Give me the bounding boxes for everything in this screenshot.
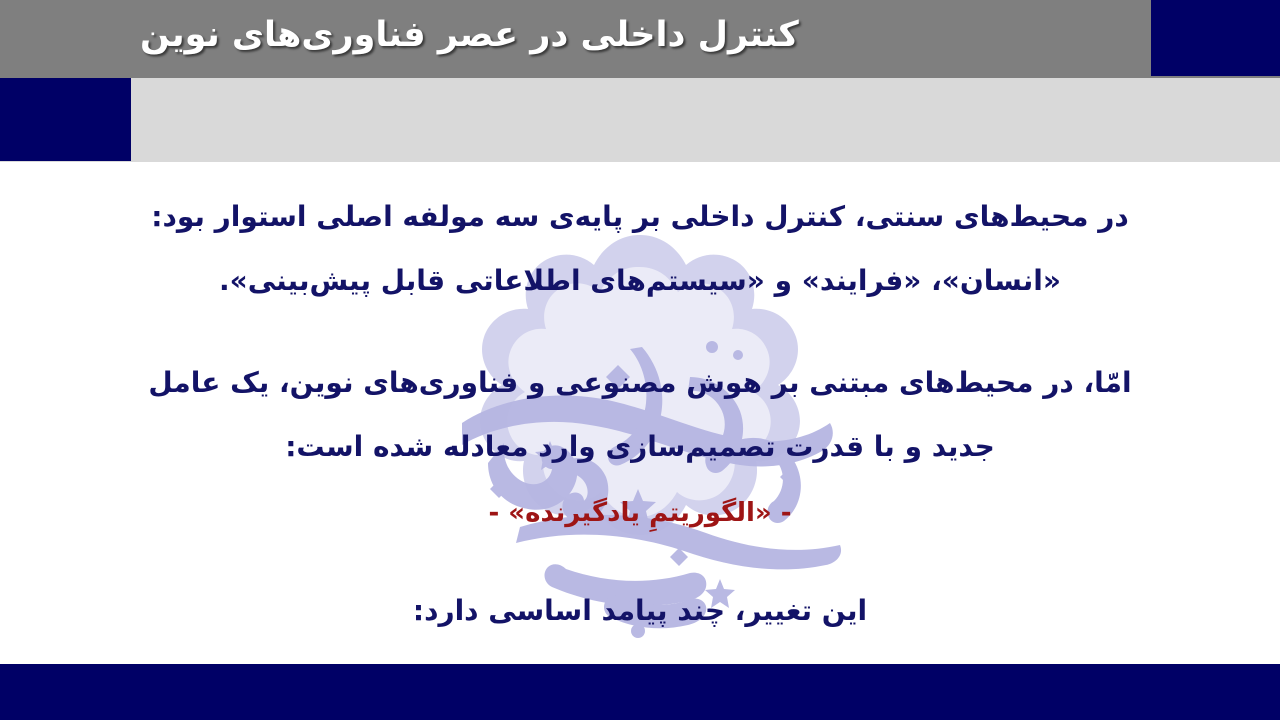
subheader-gray-band	[0, 78, 1280, 162]
slide-body: در محیط‌های سنتی، کنترل داخلی بر پایه‌ی …	[0, 162, 1280, 664]
footer-navy-band	[0, 664, 1280, 720]
presentation-slide: کنترل داخلی در عصر فناوری‌های نوین	[0, 0, 1280, 720]
body-line-highlight: - «الگوریتمِ یادگیرنده» -	[50, 498, 1230, 528]
body-line-5: این تغییر، چند پیامد اساسی دارد:	[50, 594, 1230, 627]
page-title: کنترل داخلی در عصر فناوری‌های نوین	[140, 8, 1140, 62]
body-line-3: امّا، در محیط‌های مبتنی بر هوش مصنوعی و …	[50, 366, 1230, 399]
body-line-4: جدید و با قدرت تصمیم‌سازی وارد معادله شد…	[50, 430, 1230, 463]
body-line-1: در محیط‌های سنتی، کنترل داخلی بر پایه‌ی …	[50, 200, 1230, 233]
body-line-2: «انسان»، «فرایند» و «سیستم‌های اطلاعاتی …	[50, 264, 1230, 297]
subheader-navy-accent-block	[0, 78, 131, 161]
header-navy-accent-block	[1151, 0, 1280, 76]
